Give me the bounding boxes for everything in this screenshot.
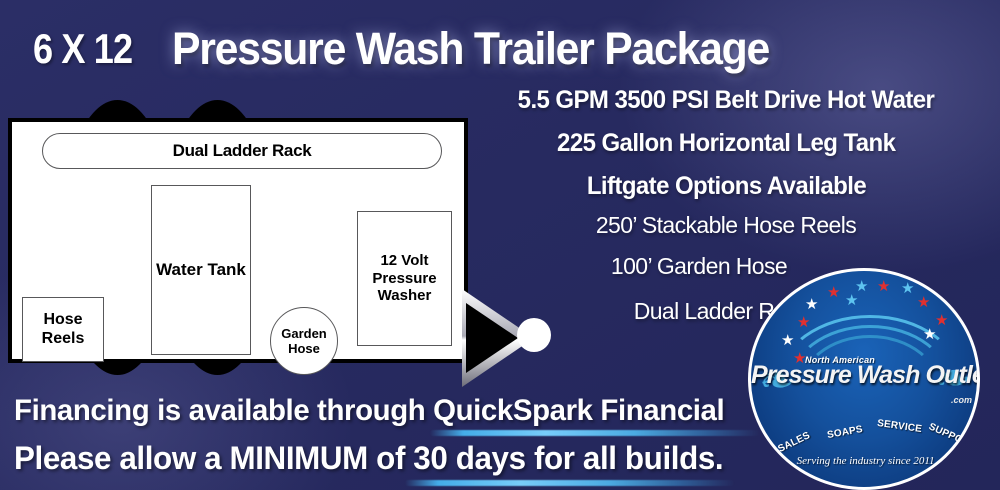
feature-item: 5.5 GPM 3500 PSI Belt Drive Hot Water xyxy=(518,86,935,115)
trailer-size-label: 6 X 12 xyxy=(33,25,132,73)
trailer-diagram: Dual Ladder Rack Water Tank 12 Volt Pres… xyxy=(0,100,500,385)
logo-star-icon: ★ xyxy=(935,313,948,328)
promo-banner: 6 X 12 Pressure Wash Trailer Package Dua… xyxy=(0,0,1000,490)
feature-item: Liftgate Options Available xyxy=(586,172,865,201)
logo-star-icon: ★ xyxy=(917,295,930,310)
logo-star-icon: ★ xyxy=(781,333,794,348)
feature-item: 250’ Stackable Hose Reels xyxy=(596,212,856,239)
logo-star-icon: ★ xyxy=(923,327,936,342)
brush-stroke-divider xyxy=(405,480,735,486)
diagram-garden-hose: Garden Hose xyxy=(270,307,338,375)
logo-main-text: Pressure Wash Outlet xyxy=(751,361,980,390)
feature-item: 225 Gallon Horizontal Leg Tank xyxy=(557,129,895,158)
brush-stroke-divider xyxy=(430,430,760,436)
minimum-build-time-text: Please allow a MINIMUM of 30 days for al… xyxy=(14,440,723,477)
trailer-body-outline: Dual Ladder Rack Water Tank 12 Volt Pres… xyxy=(8,118,468,363)
financing-text: Financing is available through QuickSpar… xyxy=(14,394,724,428)
diagram-hose-reels: Hose Reels xyxy=(22,297,104,362)
diagram-pressure-washer: 12 Volt Pressure Washer xyxy=(357,211,452,346)
logo-star-icon: ★ xyxy=(797,315,810,330)
logo-star-icon: ★ xyxy=(827,285,840,300)
banner-footer: Financing is available through QuickSpar… xyxy=(0,388,1000,490)
diagram-ladder-rack: Dual Ladder Rack xyxy=(42,133,442,169)
page-title: Pressure Wash Trailer Package xyxy=(172,23,769,75)
diagram-water-tank: Water Tank xyxy=(151,185,251,355)
logo-star-icon: ★ xyxy=(901,281,914,296)
banner-header: 6 X 12 Pressure Wash Trailer Package xyxy=(0,18,1000,80)
logo-star-icon: ★ xyxy=(877,279,890,294)
logo-star-icon: ★ xyxy=(805,297,818,312)
logo-star-icon: ★ xyxy=(845,293,858,308)
logo-star-icon: ★ xyxy=(855,279,868,294)
logo-wordmark: North American Pressure Wash Outlet .com xyxy=(751,355,980,390)
